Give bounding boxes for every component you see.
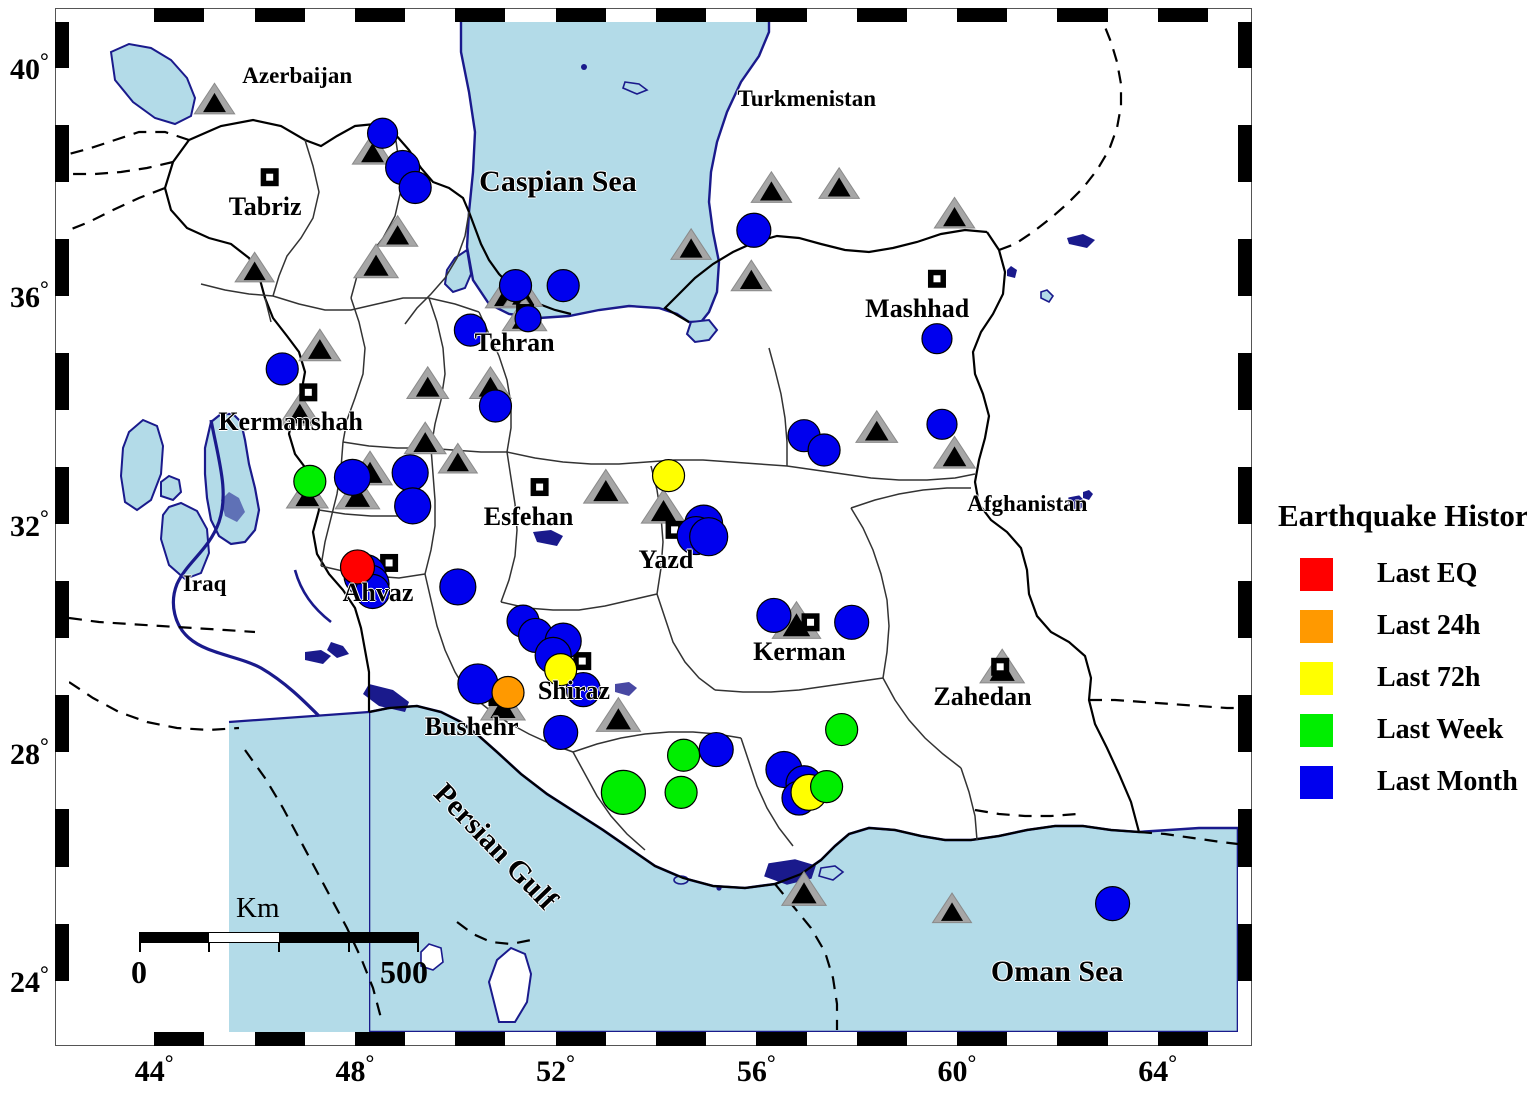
city-label: Kermanshah <box>218 407 362 437</box>
scale-tick-1 <box>208 943 210 952</box>
city-label: Yazd <box>638 545 693 575</box>
frame-seg-bottom <box>957 1032 1007 1046</box>
earthquake-circle <box>811 771 843 803</box>
earthquake-circle <box>653 460 685 492</box>
legend-color-swatch <box>1300 714 1333 747</box>
frame-seg-left <box>55 125 69 182</box>
earthquake-circle <box>690 518 728 556</box>
frame-seg-bottom <box>255 1032 305 1046</box>
frame-seg-top <box>957 8 1007 22</box>
scale-tick-2 <box>278 943 280 952</box>
frame-seg-right <box>1238 22 1252 68</box>
frame-seg-left <box>55 353 69 410</box>
frame-seg-left <box>55 22 69 68</box>
earthquake-circle <box>737 213 771 247</box>
legend: Earthquake History Last EQLast 24hLast 7… <box>1278 498 1523 808</box>
longitude-tick-label: 64° <box>1138 1050 1177 1089</box>
frame-seg-left <box>55 809 69 866</box>
country-label: Turkmenistan <box>738 86 876 112</box>
scale-tick-3 <box>348 943 350 952</box>
latitude-tick-label: 32° <box>10 505 49 544</box>
earthquake-circle <box>601 770 645 814</box>
earthquake-circle <box>368 118 398 148</box>
earthquake-circle <box>294 465 326 497</box>
earthquake-circle <box>266 353 298 385</box>
legend-item-label: Last Week <box>1377 714 1503 746</box>
frame-seg-right <box>1238 239 1252 296</box>
earthquake-circle <box>479 390 511 422</box>
frame-seg-right <box>1238 581 1252 638</box>
legend-color-swatch <box>1300 766 1333 799</box>
sea-label: Oman Sea <box>991 955 1124 989</box>
legend-item-last-month[interactable]: Last Month <box>1278 756 1523 808</box>
legend-color-swatch <box>1300 558 1333 591</box>
legend-item-last-eq[interactable]: Last EQ <box>1278 548 1523 600</box>
frame-seg-right <box>1238 924 1252 981</box>
earthquake-circle <box>395 488 431 524</box>
earthquake-circle <box>334 459 370 495</box>
earthquake-circle <box>757 598 791 632</box>
legend-color-swatch <box>1300 610 1333 643</box>
sea-label: Caspian Sea <box>479 165 637 199</box>
legend-color-swatch <box>1300 662 1333 695</box>
frame-seg-right <box>1238 125 1252 182</box>
scale-tick-4 <box>417 943 419 952</box>
frame-seg-top <box>656 8 706 22</box>
frame-seg-bottom <box>154 1032 204 1046</box>
frame-seg-top <box>857 8 907 22</box>
earthquake-circle <box>665 776 697 808</box>
latitude-tick-label: 28° <box>10 733 49 772</box>
frame-seg-bottom <box>455 1032 505 1046</box>
earthquake-circle <box>835 605 869 639</box>
earthquake-history-map-figure: TabrizTehranMashhadKermanshahEsfehanYazd… <box>0 0 1527 1107</box>
city-label: Kerman <box>753 637 845 667</box>
longitude-tick-label: 56° <box>737 1050 776 1089</box>
latitude-tick-label: 24° <box>10 961 49 1000</box>
latitude-tick-label: 36° <box>10 276 49 315</box>
earthquake-circle <box>1096 887 1130 921</box>
earthquake-circle <box>492 676 524 708</box>
city-square-icon <box>928 270 946 288</box>
frame-seg-right <box>1238 353 1252 410</box>
earthquake-circle <box>392 455 428 491</box>
scale-unit-label: Km <box>236 892 280 925</box>
city-label: Esfehan <box>484 502 574 532</box>
frame-seg-right <box>1238 809 1252 866</box>
frame-seg-bottom <box>1158 1032 1208 1046</box>
frame-seg-bottom <box>656 1032 706 1046</box>
frame-seg-bottom <box>355 1032 405 1046</box>
city-label: Bushehr <box>425 712 519 742</box>
scale-end-label: 500 <box>380 954 428 991</box>
longitude-tick-label: 44° <box>135 1050 174 1089</box>
frame-seg-right <box>1238 467 1252 524</box>
frame-seg-left <box>55 239 69 296</box>
longitude-tick-label: 52° <box>536 1050 575 1089</box>
legend-item-last-week[interactable]: Last Week <box>1278 704 1523 756</box>
frame-seg-top <box>455 8 505 22</box>
earthquake-circle <box>458 664 498 704</box>
city-label: Zahedan <box>933 682 1031 712</box>
country-label: Afghanistan <box>967 491 1087 517</box>
map-geometry <box>69 22 1238 1032</box>
frame-seg-right <box>1238 695 1252 752</box>
frame-seg-top <box>556 8 606 22</box>
city-label: Ahvaz <box>343 578 414 608</box>
frame-seg-top <box>154 8 204 22</box>
legend-item-label: Last 24h <box>1377 610 1480 642</box>
earthquake-circle <box>668 739 700 771</box>
latitude-tick-label: 40° <box>10 48 49 87</box>
frame-seg-left <box>55 924 69 981</box>
map-frame: TabrizTehranMashhadKermanshahEsfehanYazd… <box>55 8 1252 1046</box>
earthquake-circle <box>699 733 733 767</box>
map-canvas: TabrizTehranMashhadKermanshahEsfehanYazd… <box>69 22 1238 1032</box>
legend-item-label: Last Month <box>1377 766 1518 798</box>
frame-seg-left <box>55 467 69 524</box>
earthquake-circle <box>500 270 532 302</box>
city-square-icon <box>531 478 549 496</box>
frame-seg-bottom <box>857 1032 907 1046</box>
earthquake-circle <box>544 715 578 749</box>
frame-seg-bottom <box>756 1032 806 1046</box>
earthquake-circle <box>922 324 952 354</box>
longitude-tick-label: 48° <box>335 1050 374 1089</box>
earthquake-circle <box>399 171 431 203</box>
frame-seg-left <box>55 581 69 638</box>
country-label: Iraq <box>183 571 226 597</box>
legend-item-label: Last 72h <box>1377 662 1480 694</box>
frame-seg-top <box>1057 8 1107 22</box>
longitude-tick-label: 60° <box>938 1050 977 1089</box>
earthquake-circle <box>927 409 957 439</box>
legend-rows: Last EQLast 24hLast 72hLast WeekLast Mon… <box>1278 548 1523 808</box>
frame-seg-top <box>355 8 405 22</box>
scale-bar-outline <box>139 932 419 943</box>
earthquake-circle <box>808 434 840 466</box>
city-label: Tehran <box>475 328 555 358</box>
earthquake-circle <box>826 714 858 746</box>
city-square-icon <box>299 383 317 401</box>
legend-item-last-24h[interactable]: Last 24h <box>1278 600 1523 652</box>
city-label: Mashhad <box>865 294 969 324</box>
frame-seg-top <box>756 8 806 22</box>
earthquake-circle <box>440 569 476 605</box>
earthquake-circle <box>547 270 579 302</box>
country-label: Azerbaijan <box>242 63 352 89</box>
legend-title: Earthquake History <box>1278 498 1523 534</box>
legend-item-label: Last EQ <box>1377 558 1477 590</box>
city-square-icon <box>261 168 279 186</box>
scale-tick-0 <box>139 943 141 952</box>
city-square-icon <box>991 658 1009 676</box>
frame-seg-top <box>1158 8 1208 22</box>
city-label: Shiraz <box>538 676 610 706</box>
frame-seg-bottom <box>556 1032 606 1046</box>
city-label: Tabriz <box>229 192 302 222</box>
frame-seg-top <box>255 8 305 22</box>
scale-start-label: 0 <box>131 954 147 991</box>
legend-item-last-72h[interactable]: Last 72h <box>1278 652 1523 704</box>
frame-seg-bottom <box>1057 1032 1107 1046</box>
city-square-icon <box>802 613 820 631</box>
frame-seg-left <box>55 695 69 752</box>
